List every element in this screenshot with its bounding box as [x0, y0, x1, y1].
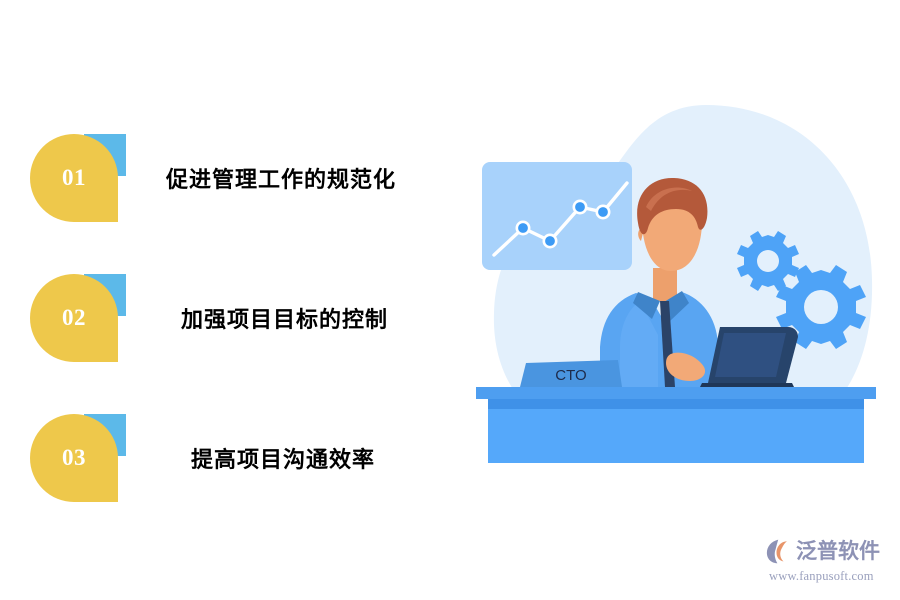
desk-front [488, 409, 864, 463]
list-item-label: 加强项目目标的控制 [181, 302, 388, 334]
neck [653, 268, 677, 301]
slide-canvas: 01 促进管理工作的规范化 02 加强项目目标的控制 03 提高项目沟通效率 [0, 0, 900, 600]
list-item-label: 促进管理工作的规范化 [166, 162, 396, 194]
number-badge: 02 [30, 274, 126, 362]
badge-number: 02 [30, 274, 118, 362]
number-badge: 01 [30, 134, 126, 222]
cto-at-desk-illustration: CTO [470, 95, 890, 485]
list-item[interactable]: 02 加强项目目标的控制 [0, 268, 470, 368]
watermark-brand: 泛普软件 [796, 541, 880, 562]
badge-number: 01 [30, 134, 118, 222]
numbered-list: 01 促进管理工作的规范化 02 加强项目目标的控制 03 提高项目沟通效率 [0, 0, 470, 600]
list-item[interactable]: 01 促进管理工作的规范化 [0, 128, 470, 228]
number-badge: 03 [30, 414, 126, 502]
nameplate-label: CTO [555, 367, 586, 384]
laptop-screen-inner [715, 333, 786, 377]
watermark-url: www.fanpusoft.com [766, 569, 894, 584]
fanpu-logo-icon [766, 537, 794, 565]
desk-lip [488, 399, 864, 409]
screen-panel [482, 162, 632, 270]
watermark: 泛普软件 www.fanpusoft.com [766, 534, 894, 592]
list-item[interactable]: 03 提高项目沟通效率 [0, 408, 470, 508]
badge-number: 03 [30, 414, 118, 502]
list-item-label: 提高项目沟通效率 [191, 442, 375, 474]
desk-top [476, 387, 876, 399]
